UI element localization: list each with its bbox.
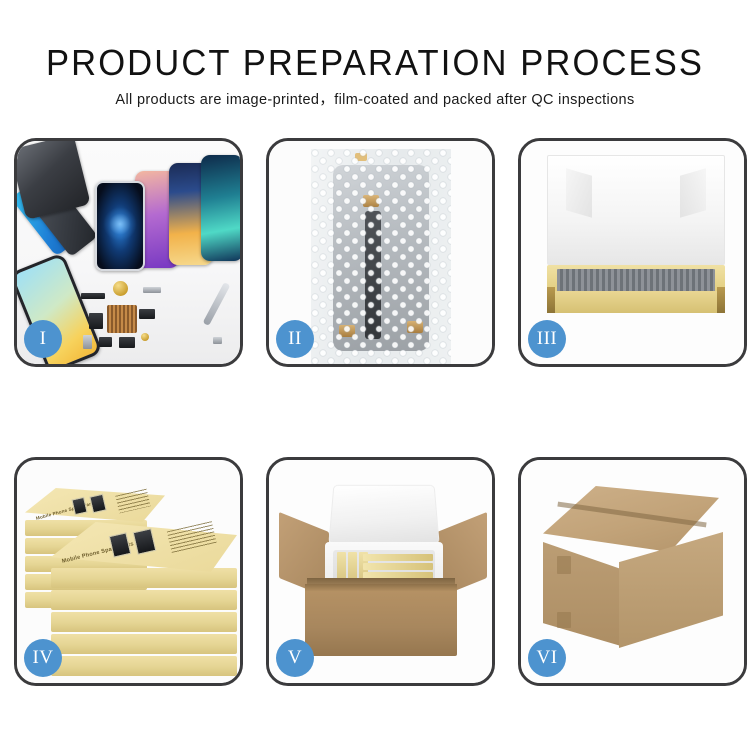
part-logic-board [107,305,137,333]
step-badge-6: VI [528,639,566,677]
step-badge-3: III [528,320,566,358]
packed-parts-layer [557,269,715,293]
lid-flap-right [680,168,706,217]
box-stack-front-4 [51,634,237,654]
carton-front-panel [305,584,457,656]
bubble-texture [311,149,451,364]
part-camera-module [89,313,103,329]
process-step-grid: I II [14,138,736,686]
part-gold-coil [113,281,128,296]
step-badge-4: IV [24,639,62,677]
box-stack-front-2 [51,590,237,610]
box-stack-front-3 [51,612,237,632]
part-vibrator [99,337,112,347]
product-preparation-infographic: PRODUCT PREPARATION PROCESS All products… [0,0,750,750]
part-sim-tray [83,335,92,349]
lid-flap-left [566,168,592,217]
part-speaker [81,293,105,299]
phone-screen-teal [201,155,240,261]
process-step-1[interactable]: I [14,138,243,367]
page-subtitle: All products are image-printed，film-coat… [0,90,750,110]
packed-box-h1 [363,554,433,561]
process-step-2[interactable]: II [266,138,495,367]
process-step-6[interactable]: VI [518,457,747,686]
packed-box-h2 [363,563,433,570]
phone-screen-glass [95,181,145,271]
carton-tape-upper [557,556,571,574]
step-badge-1: I [24,320,62,358]
part-screw-small [213,337,222,344]
tray-edge-right [717,287,725,313]
part-taptic-engine [119,337,135,348]
header: PRODUCT PREPARATION PROCESS All products… [0,0,750,110]
process-step-5[interactable]: V [266,457,495,686]
step-badge-5: V [276,639,314,677]
page-title: PRODUCT PREPARATION PROCESS [15,42,735,84]
tray-front-panel [547,291,725,313]
inner-box-lid [547,155,725,265]
box-stack-front-5 [51,656,237,676]
part-bracket [143,287,161,293]
part-flex-cable [139,309,155,319]
foam-box-lid [328,485,439,544]
process-step-3[interactable]: III [518,138,747,367]
part-screw [141,333,149,341]
process-step-4[interactable]: Mobile Phone Spare Parts Mobile Phone Sp… [14,457,243,686]
carton-tape-lower [557,612,571,628]
step-badge-2: II [276,320,314,358]
tray-edge-left [547,287,555,313]
bubble-wrap-bag [311,149,451,364]
